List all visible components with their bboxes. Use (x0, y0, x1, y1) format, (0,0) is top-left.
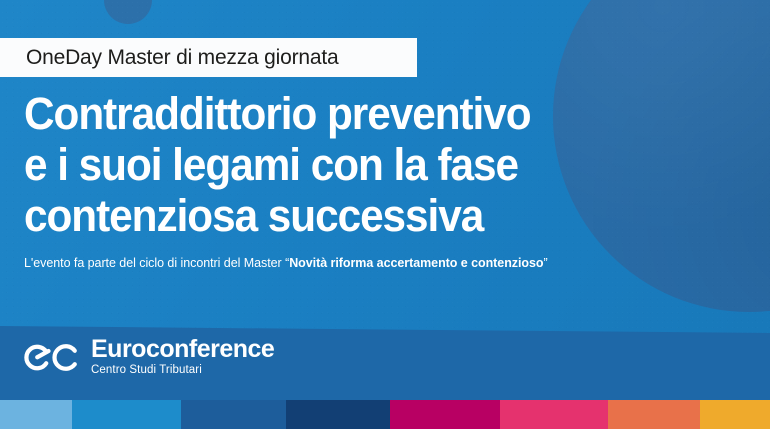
page-title: Contraddittorio preventivo e i suoi lega… (24, 88, 684, 241)
color-strip-segment-medium-blue (72, 400, 181, 429)
color-strip-segment-light-blue (0, 400, 72, 429)
headline-line-1: Contraddittorio preventivo (24, 88, 644, 139)
color-strip-segment-navy-blue (286, 400, 390, 429)
event-poster: OneDay Master di mezza giornata Contradd… (0, 0, 770, 429)
color-strip-segment-orange (608, 400, 700, 429)
brand-logo-text: Euroconference Centro Studi Tributari (91, 336, 274, 377)
kicker-label: OneDay Master di mezza giornata (26, 46, 338, 70)
subtitle-master-name: Novità riforma accertamento e contenzios… (289, 256, 543, 270)
color-strip-segment-pink (500, 400, 608, 429)
color-strip (0, 400, 770, 429)
color-strip-segment-crimson (390, 400, 500, 429)
brand-name: Euroconference (91, 336, 274, 362)
kicker-banner: OneDay Master di mezza giornata (0, 38, 417, 77)
headline-line-2: e i suoi legami con la fase (24, 139, 644, 190)
color-strip-segment-amber (700, 400, 770, 429)
headline-line-3: contenziosa successiva (24, 190, 644, 241)
ec-monogram-icon (24, 338, 80, 376)
color-strip-segment-steel-blue (181, 400, 286, 429)
brand-tagline: Centro Studi Tributari (91, 363, 274, 377)
subtitle-prefix: L'evento fa parte del ciclo di incontri … (24, 256, 289, 270)
brand-logo: Euroconference Centro Studi Tributari (24, 336, 274, 377)
subtitle: L'evento fa parte del ciclo di incontri … (24, 255, 548, 271)
subtitle-suffix: ” (543, 256, 547, 270)
